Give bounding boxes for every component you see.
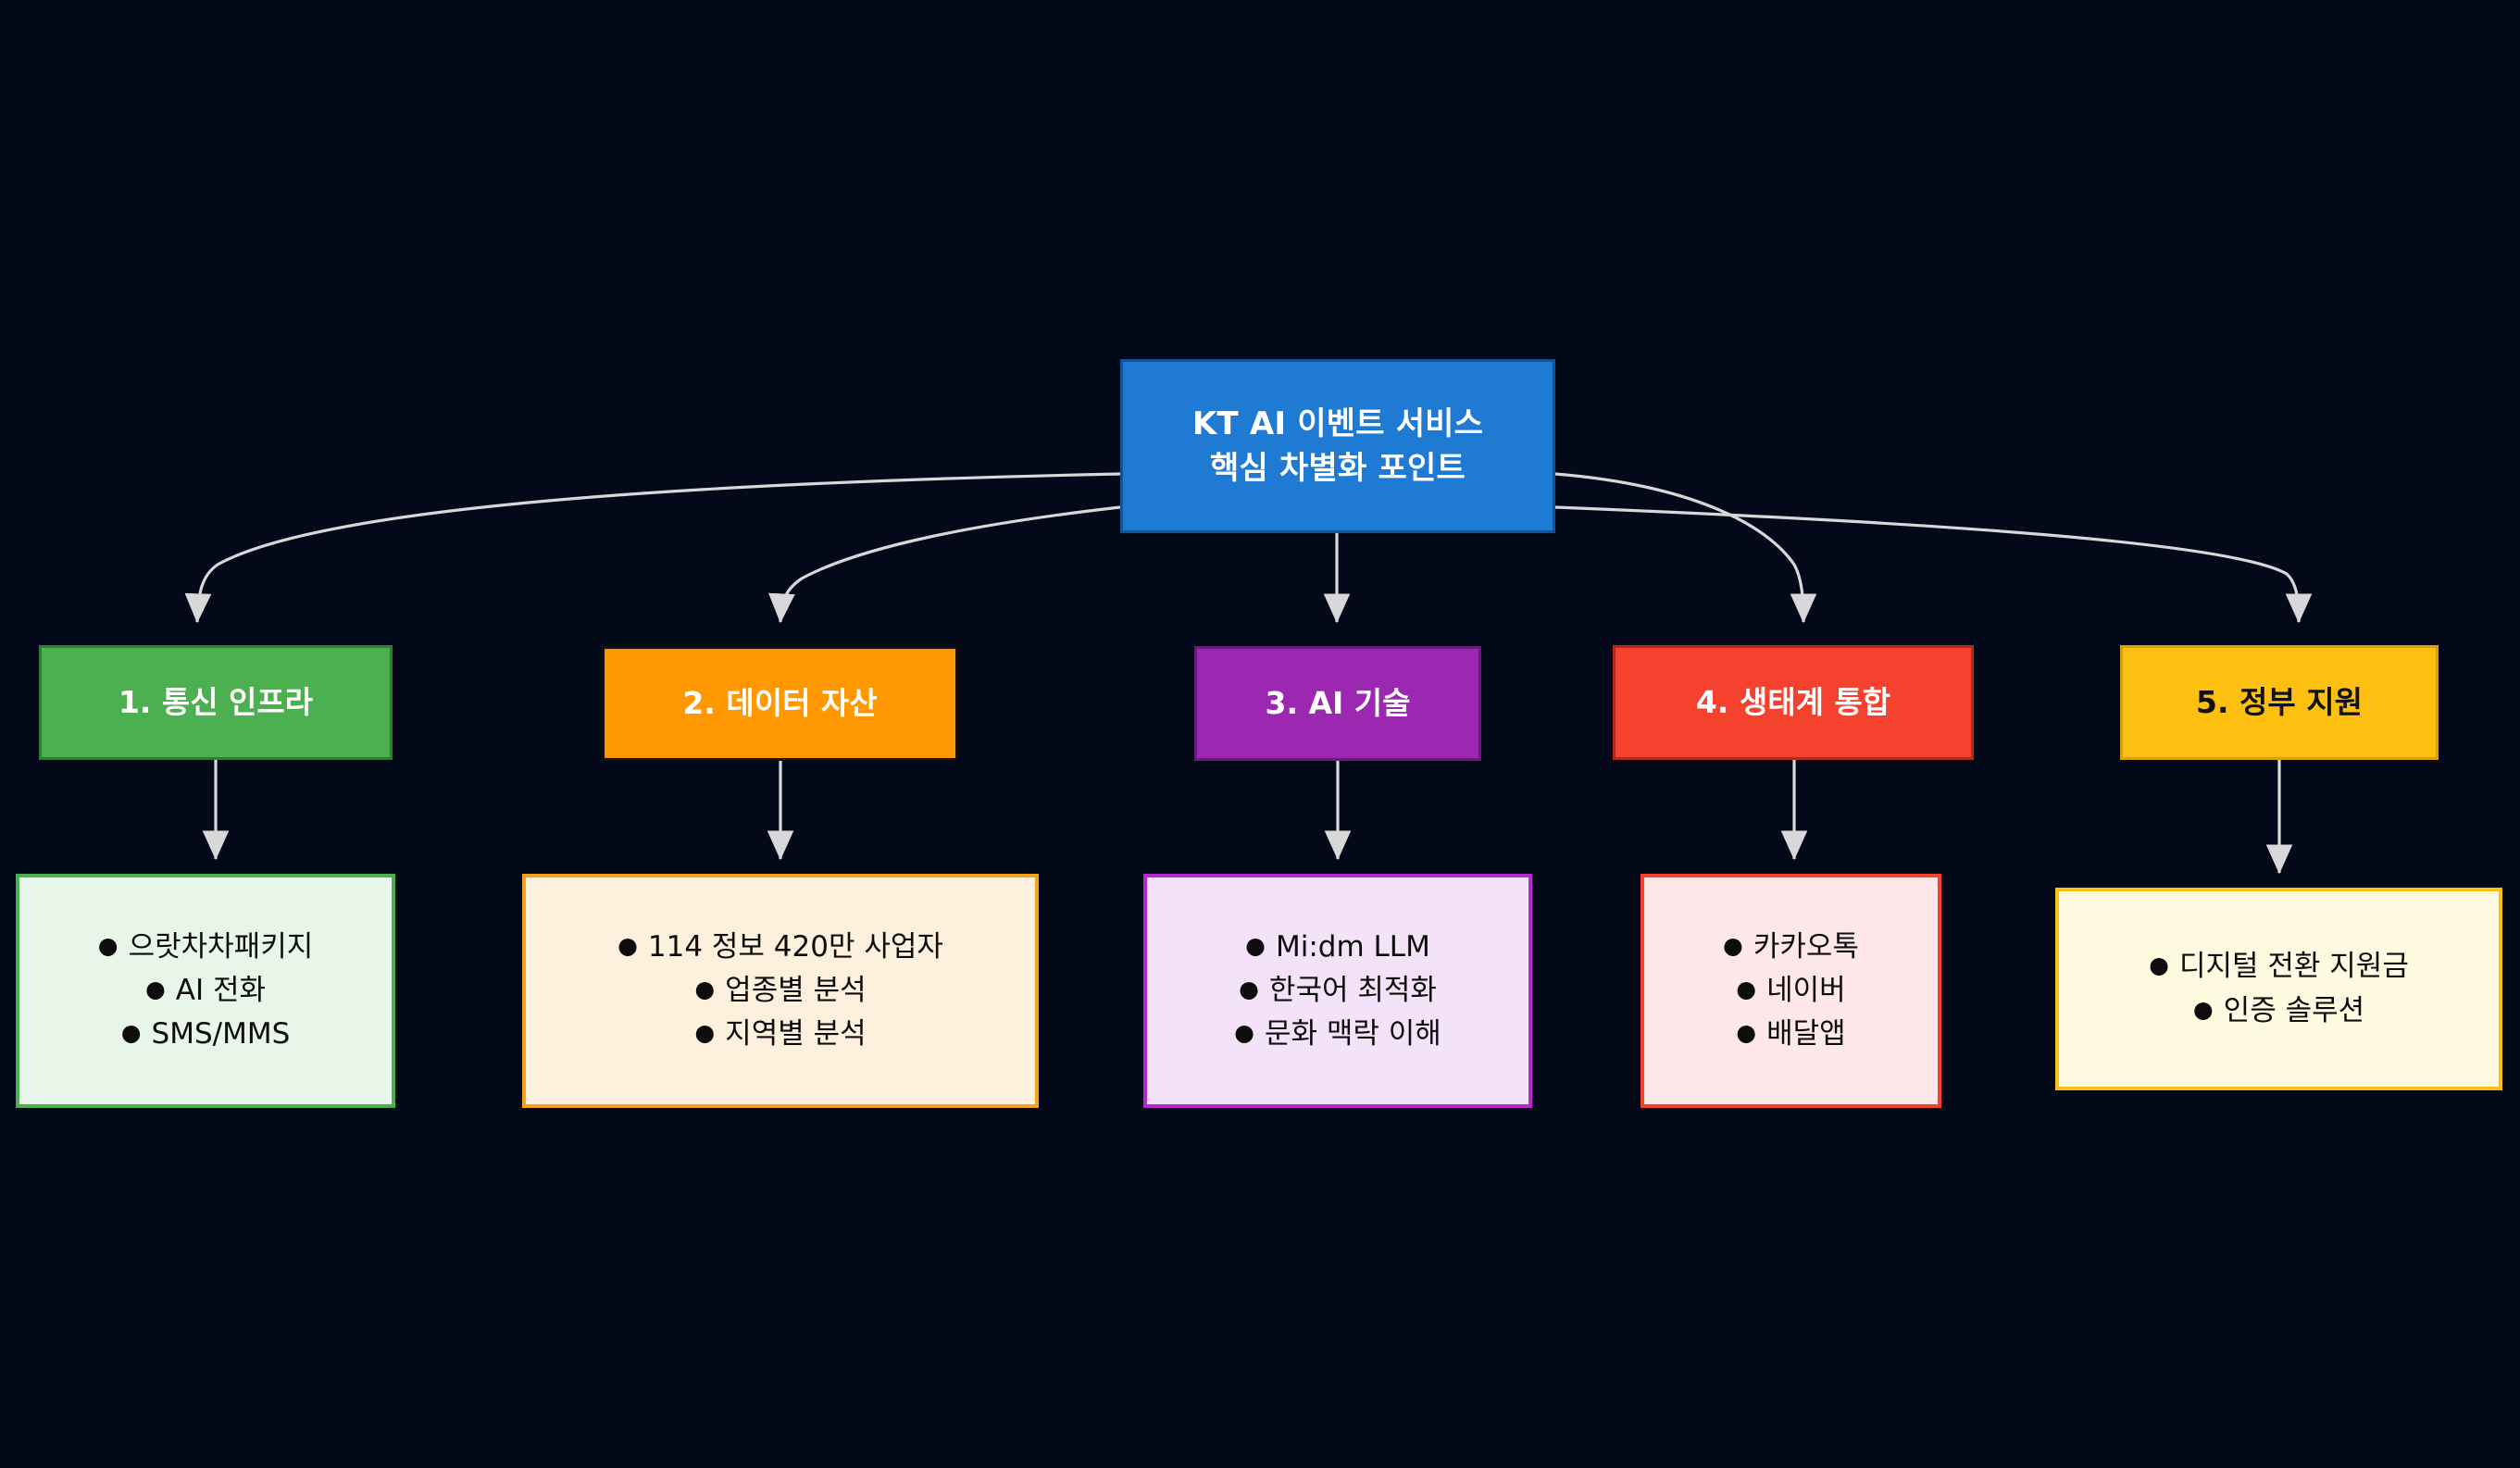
bullet-icon: ● (1239, 977, 1259, 1001)
category-node-2[interactable]: 2. 데이터 자산 (602, 646, 958, 761)
bullet-icon: ● (618, 934, 638, 957)
edge-root-to-branch-1 (197, 474, 1120, 622)
root-node[interactable]: KT AI 이벤트 서비스 핵심 차별화 포인트 (1120, 359, 1555, 533)
bullet-icon: ● (1245, 934, 1266, 957)
root-node-label-line1: KT AI 이벤트 서비스 (1192, 402, 1483, 446)
bullet-icon: ● (1736, 977, 1756, 1001)
bullet-icon: ● (694, 1021, 715, 1044)
detail-item: ●문화 맥락 이해 (1160, 1013, 1516, 1056)
detail-item: ●으랏차차패키지 (32, 926, 379, 969)
detail-node-3-list: ●Mi:dm LLM ●한국어 최적화 ●문화 맥락 이해 (1160, 926, 1516, 1056)
edge-root-to-branch-4 (1555, 474, 1803, 622)
edge-root-to-branch-2 (780, 507, 1120, 622)
detail-node-1-list: ●으랏차차패키지 ●AI 전화 ●SMS/MMS (32, 926, 379, 1056)
detail-item: ●Mi:dm LLM (1160, 926, 1516, 969)
detail-item: ●114 정보 420만 사업자 (539, 926, 1022, 969)
detail-node-1[interactable]: ●으랏차차패키지 ●AI 전화 ●SMS/MMS (16, 874, 395, 1108)
edge-root-to-branch-5 (1555, 507, 2299, 622)
detail-item: ●지역별 분석 (539, 1013, 1022, 1056)
detail-item: ●AI 전화 (32, 969, 379, 1013)
detail-node-5[interactable]: ●디지털 전환 지원금 ●인증 솔루션 (2055, 888, 2502, 1090)
bullet-icon: ● (1723, 934, 1743, 957)
detail-node-4[interactable]: ●카카오톡 ●네이버 ●배달앱 (1640, 874, 1941, 1108)
bullet-icon: ● (98, 934, 119, 957)
category-node-4[interactable]: 4. 생태계 통합 (1613, 645, 1974, 760)
bullet-icon: ● (145, 977, 166, 1001)
bullet-icon: ● (121, 1021, 142, 1044)
detail-item: ●한국어 최적화 (1160, 969, 1516, 1013)
detail-item: ●배달앱 (1657, 1013, 1925, 1056)
root-node-label: KT AI 이벤트 서비스 핵심 차별화 포인트 (1192, 402, 1483, 491)
detail-item: ●카카오톡 (1657, 926, 1925, 969)
detail-node-2-list: ●114 정보 420만 사업자 ●업종별 분석 ●지역별 분석 (539, 926, 1022, 1056)
detail-node-4-list: ●카카오톡 ●네이버 ●배달앱 (1657, 926, 1925, 1056)
category-node-3[interactable]: 3. AI 기술 (1194, 646, 1481, 761)
detail-node-5-list: ●디지털 전환 지원금 ●인증 솔루션 (2072, 945, 2486, 1032)
detail-item: ●디지털 전환 지원금 (2072, 945, 2486, 989)
detail-item: ●업종별 분석 (539, 969, 1022, 1013)
root-node-label-line2: 핵심 차별화 포인트 (1192, 446, 1483, 491)
detail-item: ●인증 솔루션 (2072, 989, 2486, 1033)
detail-item: ●네이버 (1657, 969, 1925, 1013)
category-node-2-label: 2. 데이터 자산 (682, 684, 877, 724)
category-node-4-label: 4. 생태계 통합 (1696, 683, 1890, 723)
category-node-5-label: 5. 정부 지원 (2196, 683, 2363, 723)
bullet-icon: ● (1234, 1021, 1254, 1044)
category-node-1[interactable]: 1. 통신 인프라 (39, 645, 393, 760)
category-node-1-label: 1. 통신 인프라 (119, 683, 313, 723)
category-node-3-label: 3. AI 기술 (1265, 684, 1410, 724)
bullet-icon: ● (2193, 998, 2214, 1021)
detail-item: ●SMS/MMS (32, 1013, 379, 1056)
bullet-icon: ● (694, 977, 715, 1001)
diagram-canvas: KT AI 이벤트 서비스 핵심 차별화 포인트 1. 통신 인프라 ●으랏차차… (0, 0, 2520, 1468)
bullet-icon: ● (1736, 1021, 1756, 1044)
detail-node-2[interactable]: ●114 정보 420만 사업자 ●업종별 분석 ●지역별 분석 (522, 874, 1039, 1108)
category-node-5[interactable]: 5. 정부 지원 (2120, 645, 2439, 760)
detail-node-3[interactable]: ●Mi:dm LLM ●한국어 최적화 ●문화 맥락 이해 (1143, 874, 1532, 1108)
bullet-icon: ● (2149, 953, 2169, 977)
